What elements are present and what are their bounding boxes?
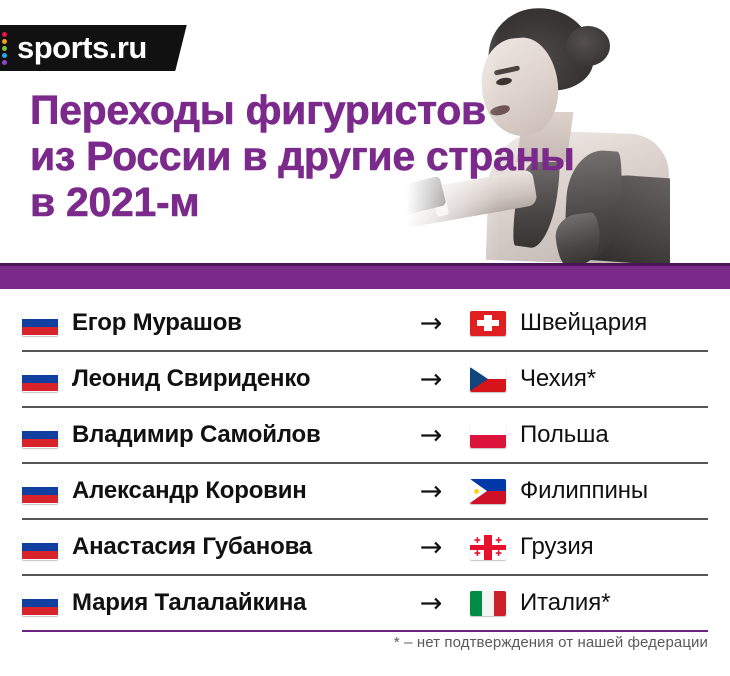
destination-cell: Филиппины [470, 477, 708, 505]
flag-poland-icon [470, 423, 506, 448]
person-name: Егор Мурашов [72, 309, 242, 337]
flag-switzerland-icon [470, 311, 506, 336]
country-name: Филиппины [520, 477, 648, 505]
destination-cell: ✚✚ ✚✚ Грузия [470, 533, 708, 561]
person-name: Александр Коровин [72, 477, 307, 505]
person-name: Леонид Свириденко [72, 365, 310, 393]
country-name: Чехия* [520, 365, 596, 393]
country-name: Швейцария [520, 309, 647, 337]
table-row: Егор Мурашов → Швейцария [22, 296, 708, 352]
flag-czechia-icon [470, 367, 506, 392]
page-title-line-3: в 2021-м [30, 180, 560, 226]
arrow-right-icon: → [392, 422, 470, 449]
destination-cell: Польша [470, 421, 708, 449]
flag-russia-icon [22, 535, 58, 560]
origin-cell: Владимир Самойлов [22, 421, 392, 449]
logo-dots-icon [2, 32, 7, 65]
flag-russia-icon [22, 591, 58, 616]
flag-philippines-icon [470, 479, 506, 504]
origin-cell: Александр Коровин [22, 477, 392, 505]
transfers-table: Егор Мурашов → Швейцария Леонид Свириден… [22, 296, 708, 632]
table-row: Анастасия Губанова → ✚✚ ✚✚ Грузия [22, 520, 708, 576]
flag-russia-icon [22, 423, 58, 448]
flag-russia-icon [22, 311, 58, 336]
origin-cell: Мария Талалайкина [22, 589, 392, 617]
country-name: Италия* [520, 589, 610, 617]
flag-russia-icon [22, 479, 58, 504]
arrow-right-icon: → [392, 478, 470, 505]
person-name: Владимир Самойлов [72, 421, 321, 449]
flag-italy-icon [470, 591, 506, 616]
table-row: Леонид Свириденко → Чехия* [22, 352, 708, 408]
purple-divider-bar [0, 263, 730, 289]
destination-cell: Италия* [470, 589, 708, 617]
arrow-right-icon: → [392, 590, 470, 617]
footnote-text: * – нет подтверждения от нашей федерации [394, 634, 708, 651]
page-title: Переходы фигуристов из России в другие с… [30, 88, 560, 226]
flag-russia-icon [22, 367, 58, 392]
origin-cell: Егор Мурашов [22, 309, 392, 337]
arrow-right-icon: → [392, 534, 470, 561]
page-title-line-1: Переходы фигуристов [30, 88, 560, 134]
flag-georgia-icon: ✚✚ ✚✚ [470, 535, 506, 560]
person-name: Анастасия Губанова [72, 533, 312, 561]
person-name: Мария Талалайкина [72, 589, 306, 617]
arrow-right-icon: → [392, 310, 470, 337]
table-row: Александр Коровин → Филиппины [22, 464, 708, 520]
page-title-line-2: из России в другие страны [30, 134, 560, 180]
country-name: Польша [520, 421, 609, 449]
origin-cell: Леонид Свириденко [22, 365, 392, 393]
arrow-right-icon: → [392, 366, 470, 393]
logo-text: sports.ru [17, 30, 147, 66]
origin-cell: Анастасия Губанова [22, 533, 392, 561]
sports-ru-logo[interactable]: sports.ru [0, 25, 187, 71]
table-row: Владимир Самойлов → Польша [22, 408, 708, 464]
header-banner: sports.ru Переходы фигуристов из России … [0, 0, 730, 263]
table-row: Мария Талалайкина → Италия* [22, 576, 708, 632]
destination-cell: Швейцария [470, 309, 708, 337]
country-name: Грузия [520, 533, 594, 561]
destination-cell: Чехия* [470, 365, 708, 393]
